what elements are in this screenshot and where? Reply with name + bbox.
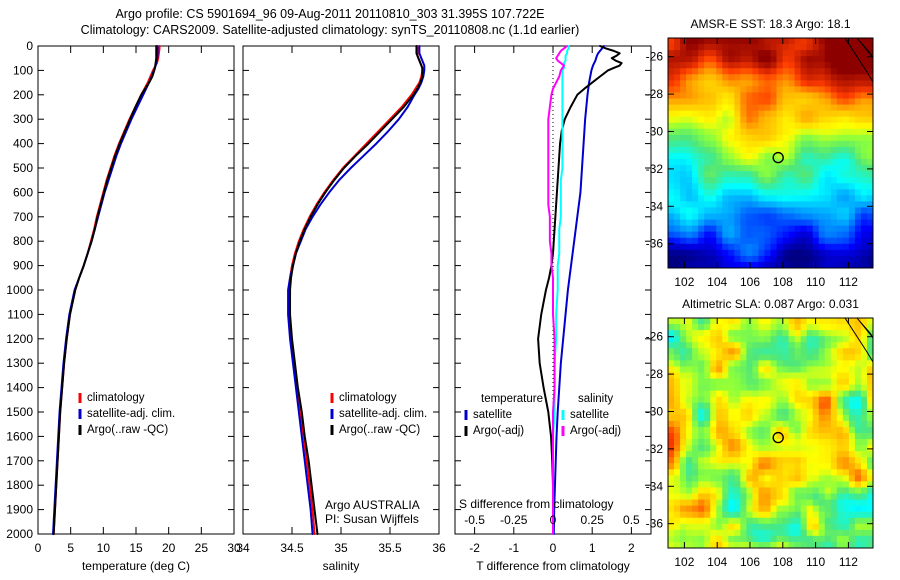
map-cell [752,62,759,69]
map-cell [783,141,790,148]
map-cell [837,536,844,543]
map-cell [764,74,771,81]
map-cell [668,68,675,75]
map-cell [692,244,699,251]
map-cell [668,354,675,361]
map-cell [825,159,832,166]
map-cell [849,409,856,416]
map-cell [758,99,765,106]
map-cell [674,391,681,398]
map-cell [789,403,796,410]
map-cell [746,244,753,251]
map-cell [674,201,681,208]
map-cell [728,391,735,398]
map-cell [813,189,820,196]
map-cell [734,372,741,379]
map-cell [668,38,675,45]
map-cell [746,92,753,99]
map-cell [698,38,705,45]
map-cell [855,324,862,331]
map-cell [734,99,741,106]
map-cell [795,244,802,251]
map-cell [734,80,741,87]
map-cell [746,336,753,343]
map-cell [734,469,741,476]
map-cell [783,421,790,428]
map-cell [861,214,868,221]
map-cell [849,457,856,464]
map-cell [777,330,784,337]
map-cell [764,244,771,251]
map-cell [710,62,717,69]
map-cell [795,445,802,452]
map-cell [771,238,778,245]
map-cell [710,153,717,160]
map-cell [668,99,675,106]
map-cell [764,512,771,519]
map-cell [686,481,693,488]
map-cell [668,494,675,501]
map-cell [795,512,802,519]
map-cell [789,385,796,392]
map-cell [777,445,784,452]
map-cell [807,415,814,422]
map-cell [855,244,862,251]
map-cell [837,232,844,239]
map-cell [777,195,784,202]
map-cell [795,153,802,160]
map-cell [692,445,699,452]
map-cell [686,451,693,458]
map-cell [789,141,796,148]
map-cell [746,214,753,221]
map-cell [716,385,723,392]
map-cell [692,159,699,166]
map-cell [722,99,729,106]
map-cell [783,494,790,501]
map-cell [686,530,693,537]
map-cell [861,105,868,112]
map-cell [758,385,765,392]
map-cell [668,117,675,124]
map-cell [764,385,771,392]
map-cell [837,487,844,494]
map-cell [843,487,850,494]
map-cell [752,330,759,337]
difference-panel: -2-1012T difference from climatologyS di… [455,46,651,573]
map-cell [728,481,735,488]
map-cell [819,111,826,118]
y-tick-label: 500 [13,161,33,175]
map-cell [686,68,693,75]
map-cell [837,330,844,337]
map-cell [716,524,723,531]
map-cell [758,524,765,531]
map-cell [807,475,814,482]
map-cell [777,512,784,519]
map-cell [843,62,850,69]
map-cell [680,512,687,519]
map-cell [674,135,681,142]
map-cell [777,80,784,87]
map-cell [680,129,687,136]
map-cell [813,177,820,184]
map-cell [771,506,778,513]
series-climatology [54,46,160,534]
map-cell [668,379,675,386]
map-cell [698,324,705,331]
map-cell [734,536,741,543]
map-cell [819,379,826,386]
map-cell [692,99,699,106]
map-cell [831,524,838,531]
map-cell [704,500,711,507]
map-cell [746,129,753,136]
map-cell [831,336,838,343]
map-cell [680,348,687,355]
map-cell [795,80,802,87]
map-cell [686,397,693,404]
map-cell [704,530,711,537]
map-cell [783,409,790,416]
map-cell [837,421,844,428]
map-cell [795,201,802,208]
map-cell [722,171,729,178]
map-cell [764,439,771,446]
map-cell [686,330,693,337]
map-cell [722,494,729,501]
map-cell [837,391,844,398]
map-cell [674,183,681,190]
map-cell [764,159,771,166]
map-cell [777,457,784,464]
map-cell [825,226,832,233]
map-cell [722,244,729,251]
map-cell [855,536,862,543]
map-cell [716,427,723,434]
map-cell [831,80,838,87]
map-cell [801,433,808,440]
map-cell [698,487,705,494]
map-cell [698,147,705,154]
map-cell [819,487,826,494]
map-cell [771,256,778,263]
map-cell [777,105,784,112]
map-cell [686,207,693,214]
x-tick-label: 0 [35,541,42,555]
map-cell [861,403,868,410]
map-cell [692,165,699,172]
map-cell [746,141,753,148]
map-cell [783,86,790,93]
map-cell [722,512,729,519]
map-cell [728,409,735,416]
legend-label: Argo(-adj) [473,425,524,437]
map-cell [752,92,759,99]
map-cell [861,195,868,202]
map-cell [855,451,862,458]
map-cell [698,244,705,251]
map-cell [728,318,735,325]
map-cell [861,463,868,470]
map-cell [789,207,796,214]
map-cell [807,427,814,434]
map-cell [752,506,759,513]
map-cell [680,506,687,513]
map-cell [801,220,808,227]
map-cell [668,463,675,470]
map-cell [861,80,868,87]
map-cell [843,439,850,446]
map-cell [740,530,747,537]
map-cell [831,451,838,458]
map-cell [758,500,765,507]
map-cell [746,524,753,531]
map-cell [843,463,850,470]
map-cell [710,445,717,452]
map-cell [819,147,826,154]
map-cell [710,207,717,214]
map-cell [710,68,717,75]
map-cell [825,201,832,208]
map-cell [698,481,705,488]
map-cell [746,512,753,519]
map-cell [722,111,729,118]
map-cell [710,256,717,263]
map-cell [819,324,826,331]
y-tick-label: 1900 [6,503,33,517]
map-cell [789,524,796,531]
map-cell [855,463,862,470]
map-cell [801,68,808,75]
map-cell [783,207,790,214]
map-cell [795,397,802,404]
map-cell [861,536,868,543]
map-cell [680,250,687,257]
map-cell [801,244,808,251]
map-cell [758,536,765,543]
map-cell [849,385,856,392]
map-cell [807,201,814,208]
map-cell [837,50,844,57]
map-cell [783,457,790,464]
map-cell [861,500,868,507]
map-cell [752,256,759,263]
map-cell [674,324,681,331]
map-cell [849,427,856,434]
map-cell [698,220,705,227]
map-cell [837,68,844,75]
map-cell [801,330,808,337]
map-cell [855,238,862,245]
map-cell [722,38,729,45]
map-cell [777,165,784,172]
map-cell [668,50,675,57]
map-cell [698,250,705,257]
map-cell [764,238,771,245]
map-cell [795,99,802,106]
map-cell [722,336,729,343]
map-cell [674,457,681,464]
map-cell [831,433,838,440]
sla-map: 102104106108110112-26-28-30-32-34-36Alti… [646,297,874,569]
map-cell [710,487,717,494]
map-cell [764,530,771,537]
map-cell [740,445,747,452]
map-cell [668,226,675,233]
map-cell [843,391,850,398]
map-cell [843,457,850,464]
map-cell [716,86,723,93]
map-cell [752,427,759,434]
map-cell [698,463,705,470]
map-cell [795,372,802,379]
map-cell [728,135,735,142]
map-cell [813,105,820,112]
map-cell [807,238,814,245]
map-cell [837,500,844,507]
map-cell [752,524,759,531]
map-cell [704,189,711,196]
map-cell [758,141,765,148]
map-cell [831,536,838,543]
map-cell [819,177,826,184]
map-cell [855,366,862,373]
map-cell [716,397,723,404]
sst-map: 102104106108110112-26-28-30-32-34-36AMSR… [646,17,874,289]
map-cell [728,421,735,428]
map-cell [680,354,687,361]
map-cell [801,111,808,118]
map-cell [831,518,838,525]
map-cell [861,153,868,160]
map-cell [716,56,723,63]
map-cell [758,348,765,355]
map-cell [813,99,820,106]
map-cell [849,487,856,494]
map-cell [674,86,681,93]
map-cell [722,105,729,112]
map-cell [710,427,717,434]
map-cell [692,427,699,434]
map-cell [692,207,699,214]
map-cell [734,403,741,410]
map-cell [861,86,868,93]
map-cell [698,391,705,398]
map-cell [728,250,735,257]
map-cell [668,214,675,221]
map-cell [783,372,790,379]
map-cell [771,524,778,531]
map-cell [680,220,687,227]
map-cell [710,451,717,458]
map-cell [831,457,838,464]
map-cell [734,360,741,367]
map-cell [807,92,814,99]
map-cell [698,129,705,136]
map-cell [819,354,826,361]
map-cell [686,445,693,452]
map-cell [771,451,778,458]
map-cell [783,469,790,476]
map-cell [777,117,784,124]
map-cell [680,439,687,446]
map-cell [716,487,723,494]
map-cell [819,530,826,537]
map-cell [752,226,759,233]
map-cell [716,171,723,178]
map-cell [764,324,771,331]
map-cell [740,324,747,331]
map-cell [843,117,850,124]
map-cell [825,165,832,172]
map-cell [722,318,729,325]
map-cell [692,403,699,410]
map-cell [704,80,711,87]
map-cell [668,147,675,154]
map-cell [855,86,862,93]
map-cell [843,56,850,63]
map-cell [771,403,778,410]
map-cell [849,74,856,81]
map-cell [801,536,808,543]
map-cell [764,207,771,214]
map-cell [777,336,784,343]
map-cell [825,530,832,537]
map-cell [740,244,747,251]
map-cell [716,195,723,202]
map-cell [734,348,741,355]
map-cell [734,512,741,519]
map-cell [710,324,717,331]
map-cell [722,506,729,513]
map-cell [837,129,844,136]
map-cell [813,80,820,87]
map-cell [837,409,844,416]
map-cell [849,177,856,184]
map-cell [831,403,838,410]
map-cell [698,105,705,112]
map-cell [825,518,832,525]
y-tick-label: 1700 [6,454,33,468]
map-cell [789,427,796,434]
map-cell [746,123,753,130]
map-cell [861,256,868,263]
map-cell [831,427,838,434]
figure-title: Argo profile: CS 5901694_96 09-Aug-2011 … [0,6,660,38]
map-cell [740,68,747,75]
map-cell [728,348,735,355]
map-cell [819,500,826,507]
map-cell [777,348,784,355]
map-cell [777,397,784,404]
map-cell [795,256,802,263]
map-cell [740,330,747,337]
map-cell [734,445,741,452]
map-cell [686,38,693,45]
map-cell [861,165,868,172]
map-cell [674,530,681,537]
map-cell [831,372,838,379]
map-cell [783,68,790,75]
map-cell [704,324,711,331]
map-cell [698,415,705,422]
map-cell [746,171,753,178]
map-cell [752,469,759,476]
map-cell [771,421,778,428]
map-cell [692,195,699,202]
map-cell [698,318,705,325]
